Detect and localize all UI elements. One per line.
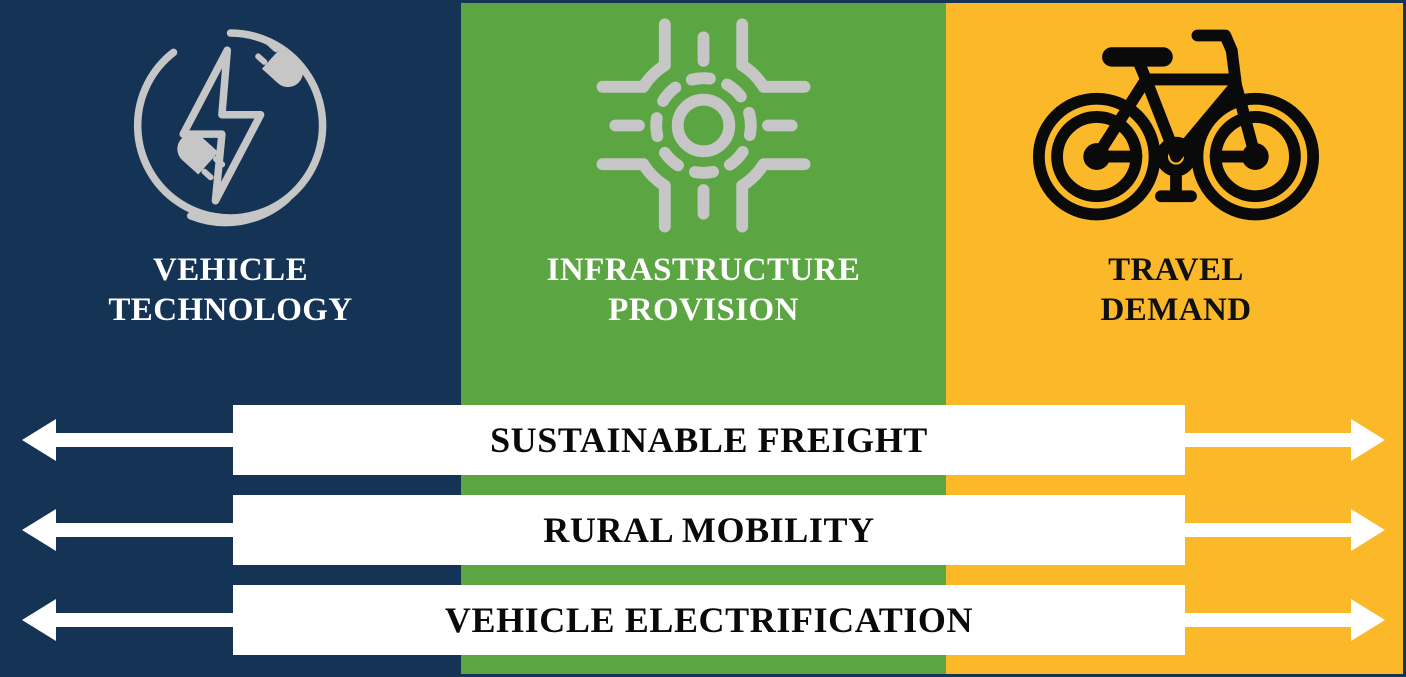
header-infrastructure-provision: INFRASTRUCTURE PROVISION [461, 0, 946, 392]
caption-line-1: VEHICLE [108, 250, 352, 290]
caption-line-1: TRAVEL [1101, 250, 1252, 290]
caption-line-2: PROVISION [547, 290, 861, 330]
bicycle-icon [946, 0, 1406, 250]
caption-line-1: INFRASTRUCTURE [547, 250, 861, 290]
caption-infrastructure-provision: INFRASTRUCTURE PROVISION [547, 250, 861, 331]
diagram-canvas: VEHICLE TECHNOLOGY [0, 0, 1406, 677]
header-vehicle-technology: VEHICLE TECHNOLOGY [0, 0, 461, 392]
roundabout-junction-icon [461, 0, 946, 250]
caption-line-2: TECHNOLOGY [108, 290, 352, 330]
caption-vehicle-technology: VEHICLE TECHNOLOGY [108, 250, 352, 331]
caption-travel-demand: TRAVEL DEMAND [1101, 250, 1252, 331]
header-travel-demand: TRAVEL DEMAND [946, 0, 1406, 392]
ev-plug-lightning-icon [0, 0, 461, 250]
caption-line-2: DEMAND [1101, 290, 1252, 330]
